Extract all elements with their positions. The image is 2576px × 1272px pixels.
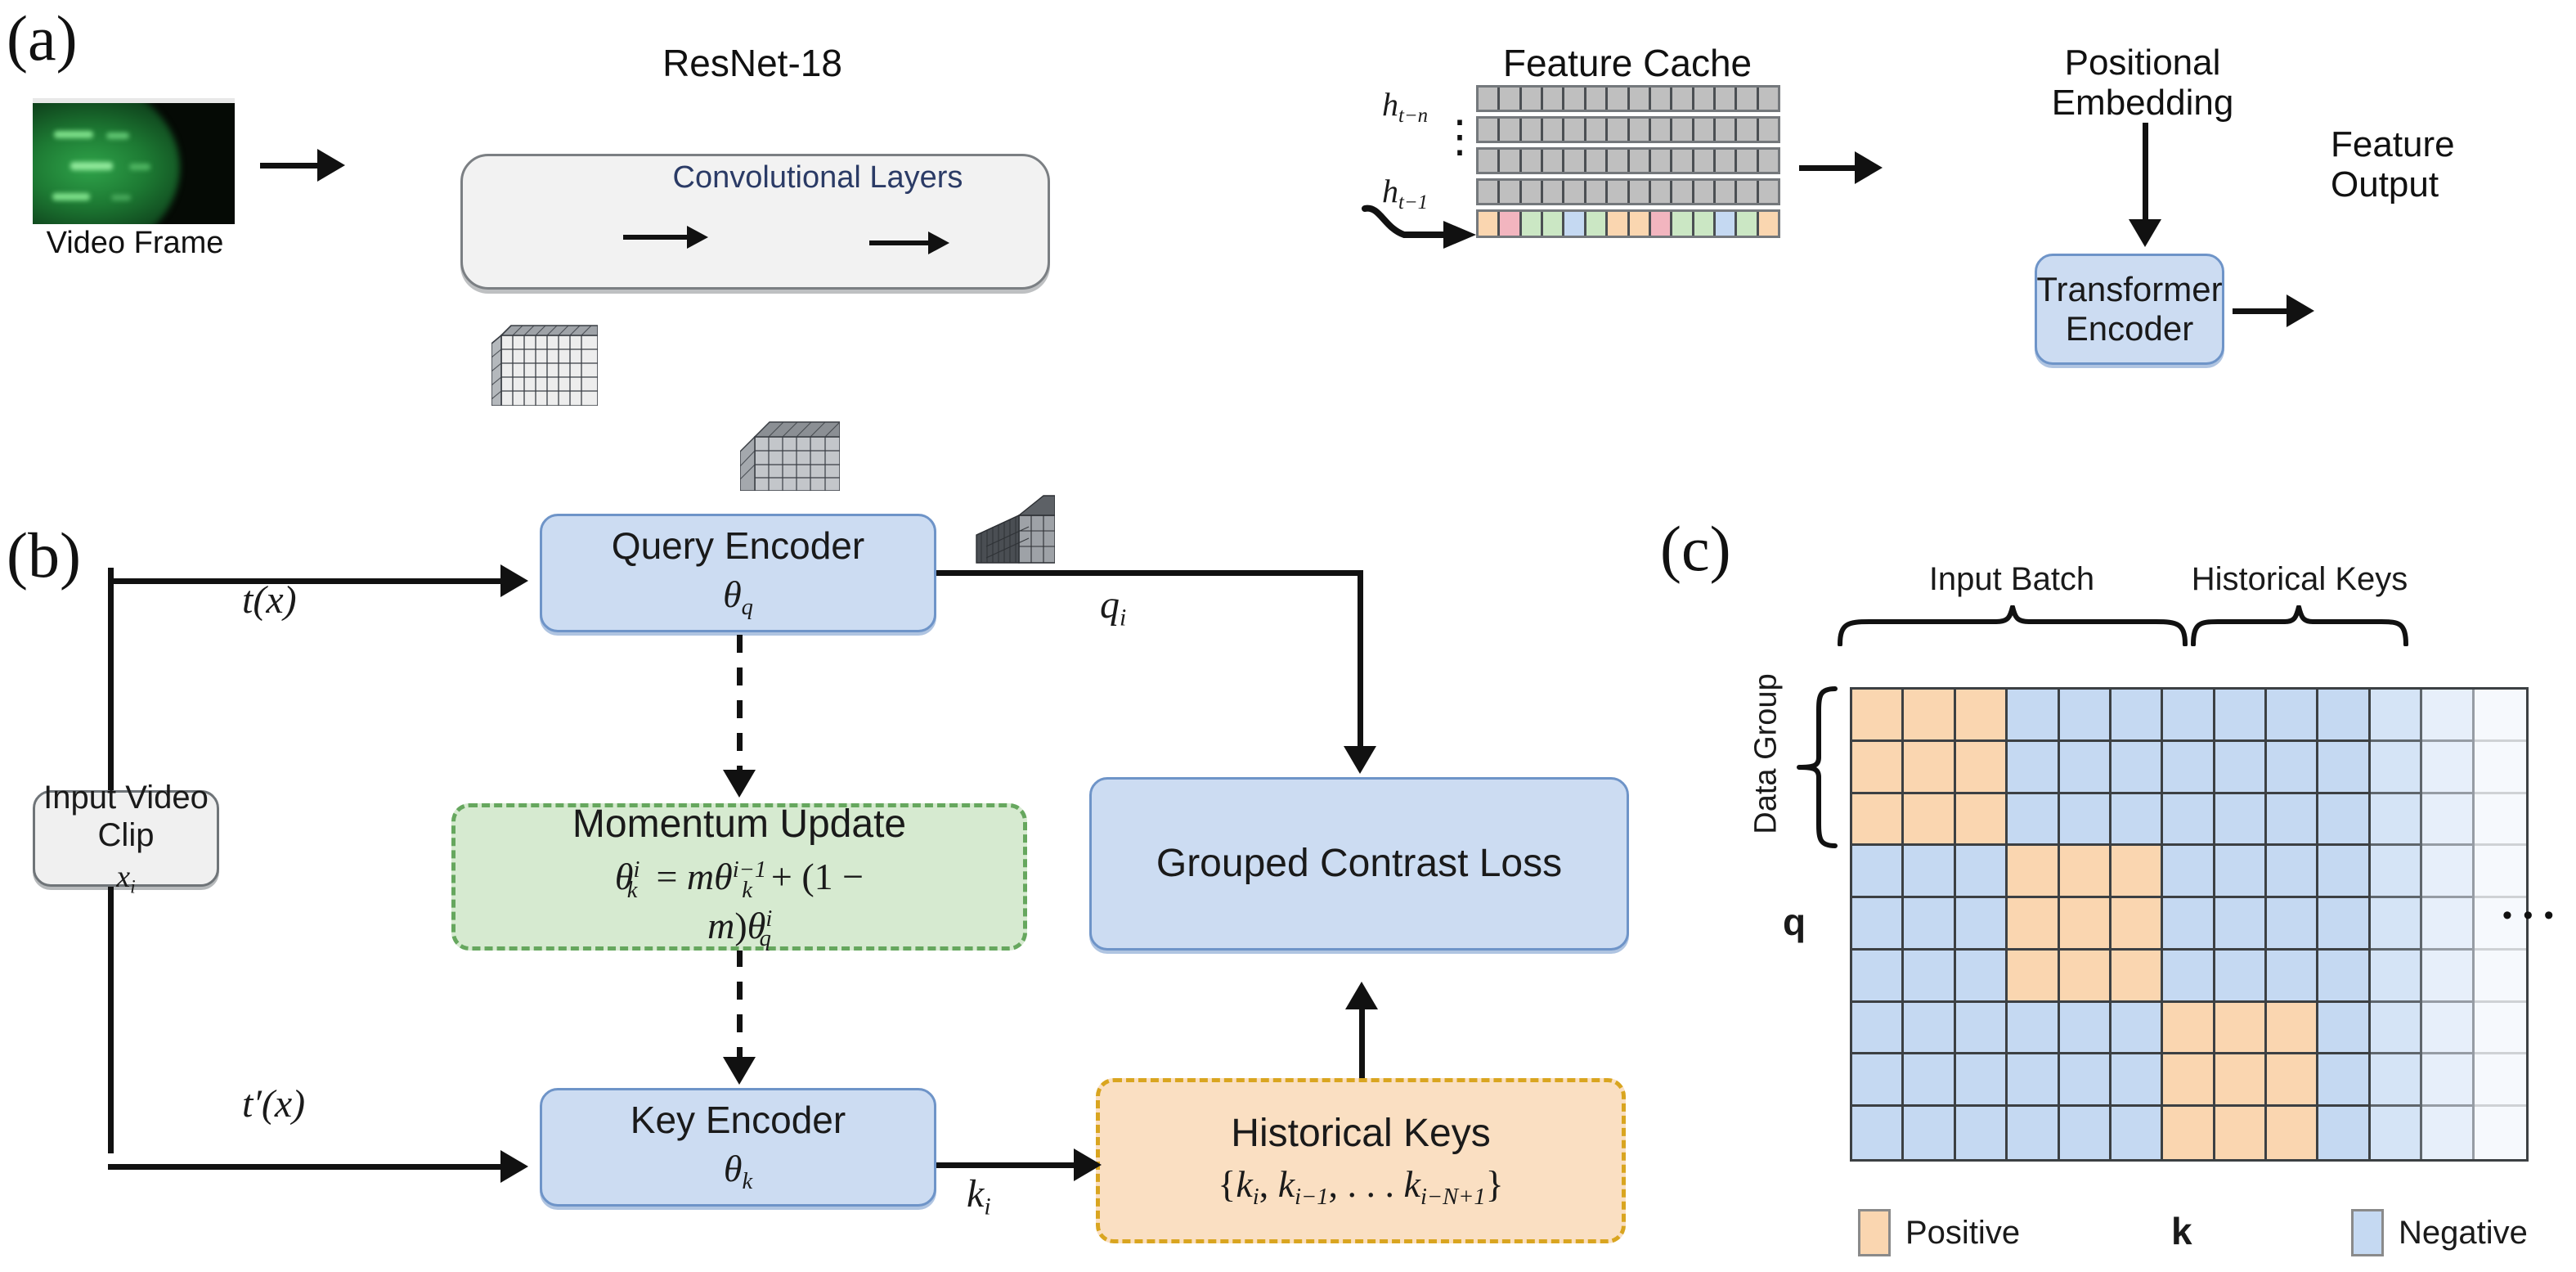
- cache-cell: [1500, 88, 1521, 110]
- cache-cell: [1651, 119, 1672, 141]
- query-encoder-theta: θq: [723, 573, 753, 621]
- cache-cell: [1564, 181, 1586, 203]
- matrix-cell: [2112, 951, 2163, 1003]
- matrix-cell: [2163, 742, 2215, 794]
- cache-cell: [1694, 150, 1716, 172]
- matrix-cell: [2475, 1054, 2526, 1107]
- historical-keys-set: {ki, ki−1, . . . ki−N+1}: [1218, 1162, 1504, 1211]
- matrix-cell: [2267, 898, 2318, 951]
- edge-label-t-x: t(x): [242, 578, 297, 623]
- key-encoder-theta: θk: [724, 1147, 752, 1195]
- label-data-group: Data Group: [1749, 656, 1784, 852]
- cache-cell-colored: [1608, 212, 1629, 236]
- cache-cell-colored: [1694, 212, 1716, 236]
- matrix-cell: [2060, 794, 2112, 847]
- cache-cell: [1737, 88, 1758, 110]
- theta-q-sub: q: [742, 596, 753, 621]
- feature-output-line2: Output: [2331, 164, 2576, 205]
- positional-embedding-label: Positional Embedding: [1987, 43, 2298, 124]
- cache-cell: [1522, 119, 1543, 141]
- matrix-cell: [2008, 794, 2059, 847]
- arrow-frame-to-resnet: [260, 149, 345, 182]
- matrix-cell: [2215, 846, 2267, 898]
- cache-cell-colored: [1759, 212, 1778, 236]
- historical-keys-label: Historical Keys: [1231, 1111, 1490, 1156]
- matrix-cell: [2060, 1107, 2112, 1159]
- transformer-encoder-line1: Transformer: [2036, 270, 2222, 309]
- matrix-cell: [2060, 1003, 2112, 1055]
- matrix-cell: [1956, 846, 2008, 898]
- matrix-cell: [1904, 951, 1955, 1003]
- arrow-input-to-query-encoder: [108, 564, 528, 597]
- label-input-batch: Input Batch: [1865, 561, 2159, 598]
- cache-cell: [1694, 119, 1716, 141]
- matrix-cell: [2475, 742, 2526, 794]
- arrow-conv-1-to-2: [623, 226, 708, 249]
- cache-cell: [1564, 119, 1586, 141]
- edge-label-k-i: ki: [967, 1171, 991, 1221]
- legend-swatch-positive: [1858, 1209, 1891, 1256]
- feature-cache-rows: [1476, 85, 1780, 238]
- resnet-title: ResNet-18: [458, 43, 1047, 85]
- cache-cell: [1543, 88, 1564, 110]
- matrix-cell: [2475, 794, 2526, 847]
- matrix-cell: [2163, 898, 2215, 951]
- legend-label-positive: Positive: [1905, 1215, 2020, 1252]
- matrix-cell: [1956, 690, 2008, 742]
- matrix-cell: [2215, 951, 2267, 1003]
- matrix-cell: [1956, 898, 2008, 951]
- matrix-cell: [2422, 794, 2474, 847]
- conv-feature-cube-3: [973, 492, 1055, 566]
- panel-b-tag: (b): [7, 524, 81, 587]
- matrix-cell: [1852, 690, 1904, 742]
- cache-cell: [1651, 150, 1672, 172]
- matrix-cell: [2422, 951, 2474, 1003]
- arrow-curved-into-cache: [1362, 200, 1484, 262]
- cache-cell-colored: [1564, 212, 1586, 236]
- positional-embedding-line2: Embedding: [1987, 83, 2298, 123]
- edge-k-sub: i: [984, 1193, 990, 1220]
- cache-cell-colored: [1586, 212, 1608, 236]
- cache-cell-colored: [1716, 212, 1737, 236]
- matrix-cell: [2267, 794, 2318, 847]
- cache-cell: [1479, 150, 1500, 172]
- grouped-contrast-loss-label: Grouped Contrast Loss: [1156, 841, 1562, 886]
- matrix-cell: [2112, 742, 2163, 794]
- cache-cell: [1737, 181, 1758, 203]
- cache-row-colored: [1476, 209, 1780, 238]
- panel-a-tag: (a): [7, 7, 78, 70]
- matrix-cell: [2475, 690, 2526, 742]
- video-frame-caption: Video Frame: [16, 226, 254, 262]
- matrix-cell: [2318, 1003, 2370, 1055]
- cache-cell: [1716, 119, 1737, 141]
- query-encoder-label: Query Encoder: [612, 524, 864, 568]
- matrix-cell: [1904, 1003, 1955, 1055]
- matrix-cell: [2163, 951, 2215, 1003]
- edge-label-t-prime-x: t′(x): [242, 1081, 305, 1126]
- input-video-clip-box[interactable]: Input Video Clip xi: [33, 790, 219, 887]
- matrix-cell: [2318, 898, 2370, 951]
- edge-k-base: k: [967, 1172, 984, 1216]
- transformer-encoder-line2: Encoder: [2066, 309, 2193, 348]
- matrix-cell: [2267, 1107, 2318, 1159]
- momentum-update-label: Momentum Update: [572, 802, 906, 847]
- matrix-cell: [1956, 742, 2008, 794]
- key-encoder-box[interactable]: Key Encoder θk: [540, 1088, 936, 1207]
- matrix-cell: [2422, 1003, 2474, 1055]
- cache-cell-colored: [1500, 212, 1521, 236]
- legend-swatch-negative: [2351, 1209, 2384, 1256]
- matrix-cell: [2060, 742, 2112, 794]
- cache-cell-colored: [1672, 212, 1694, 236]
- matrix-cell: [2215, 1107, 2267, 1159]
- matrix-cell: [1904, 1107, 1955, 1159]
- cache-cell: [1564, 150, 1586, 172]
- matrix-cell: [2267, 1003, 2318, 1055]
- matrix-cell: [2215, 794, 2267, 847]
- matrix-cell: [2008, 1054, 2059, 1107]
- matrix-cell: [1956, 951, 2008, 1003]
- matrix-cell: [2215, 690, 2267, 742]
- matrix-cell: [2422, 1054, 2474, 1107]
- cache-cell-colored: [1737, 212, 1758, 236]
- matrix-cell: [2112, 898, 2163, 951]
- cache-label-h-top-base: h: [1382, 86, 1398, 123]
- conv-feature-cube-2: [740, 416, 840, 491]
- matrix-cell: [2371, 690, 2422, 742]
- arrow-query-to-momentum: [723, 635, 756, 798]
- cache-cell: [1608, 88, 1629, 110]
- cache-cell: [1543, 119, 1564, 141]
- cache-cell: [1737, 119, 1758, 141]
- cache-label-h-t-minus-n: ht−n: [1382, 85, 1428, 128]
- matrix-cell: [1904, 690, 1955, 742]
- cache-cell-colored: [1543, 212, 1564, 236]
- matrix-cell: [2215, 742, 2267, 794]
- matrix-cell: [2060, 951, 2112, 1003]
- key-encoder-label: Key Encoder: [631, 1099, 846, 1142]
- arrow-momentum-to-key: [723, 949, 756, 1085]
- momentum-update-formula: θik = mθi−1k + (1 − m)θiq: [578, 855, 900, 951]
- cache-cell: [1586, 119, 1608, 141]
- left-brace-data-group: [1796, 685, 1838, 853]
- edge-query-to-loss-horizontal: [936, 570, 1363, 576]
- cache-cell: [1586, 150, 1608, 172]
- matrix-cell: [2163, 1003, 2215, 1055]
- legend-negative: Negative: [2351, 1209, 2528, 1256]
- matrix-cell: [2422, 898, 2474, 951]
- cache-cell: [1630, 88, 1651, 110]
- matrix-cell: [1852, 898, 1904, 951]
- cache-cell: [1543, 181, 1564, 203]
- conv-feature-cube-1: [491, 317, 598, 406]
- matrix-cell: [2422, 846, 2474, 898]
- theta-k-sub: k: [742, 1170, 752, 1195]
- edge-trunk-vertical: [108, 568, 114, 790]
- arrow-input-to-key-encoder: [108, 1150, 528, 1183]
- cache-cell: [1651, 181, 1672, 203]
- matrix-cell: [2163, 794, 2215, 847]
- matrix-cell: [2371, 742, 2422, 794]
- input-clip-i: i: [130, 876, 136, 897]
- matrix-cell: [1904, 1054, 1955, 1107]
- matrix-cell: [2163, 690, 2215, 742]
- cache-cell: [1716, 88, 1737, 110]
- cache-cell: [1500, 150, 1521, 172]
- theta-k-base: θ: [724, 1148, 743, 1189]
- matrix-cell: [2008, 742, 2059, 794]
- matrix-cell: [1956, 1003, 2008, 1055]
- matrix-cell: [2267, 951, 2318, 1003]
- matrix-cell: [2267, 690, 2318, 742]
- cache-cell: [1737, 150, 1758, 172]
- edge-query-to-loss-vertical: [1358, 570, 1363, 748]
- transformer-encoder-box[interactable]: Transformer Encoder: [2035, 254, 2224, 365]
- feature-output-label: Feature Output: [2331, 124, 2576, 205]
- positional-embedding-line1: Positional: [1987, 43, 2298, 83]
- similarity-matrix: [1850, 687, 2529, 1162]
- matrix-cell: [2267, 1054, 2318, 1107]
- matrix-cell: [2008, 1003, 2059, 1055]
- edge-q-sub: i: [1120, 605, 1126, 632]
- cache-cell: [1522, 150, 1543, 172]
- cache-cell-colored: [1522, 212, 1543, 236]
- matrix-cell: [2318, 690, 2370, 742]
- arrow-key-to-historical-keys: [936, 1148, 1102, 1181]
- matrix-cell: [2371, 1054, 2422, 1107]
- cache-cell: [1608, 181, 1629, 203]
- cache-cell: [1759, 88, 1778, 110]
- matrix-cell: [2060, 846, 2112, 898]
- matrix-cell: [2318, 1054, 2370, 1107]
- label-historical-keys-c: Historical Keys: [2185, 561, 2414, 598]
- matrix-cell: [2422, 742, 2474, 794]
- grouped-contrast-loss-box[interactable]: Grouped Contrast Loss: [1089, 777, 1629, 951]
- cache-cell: [1479, 119, 1500, 141]
- panel-c-tag: (c): [1660, 517, 1731, 581]
- matrix-cell: [1852, 1107, 1904, 1159]
- matrix-cell: [2008, 898, 2059, 951]
- momentum-update-box[interactable]: Momentum Update θik = mθi−1k + (1 − m)θi…: [451, 803, 1027, 951]
- cache-cell: [1672, 88, 1694, 110]
- cache-cell: [1522, 181, 1543, 203]
- matrix-cell: [2008, 846, 2059, 898]
- arrow-positional-embedding-down: [2129, 123, 2161, 247]
- cache-cell: [1543, 150, 1564, 172]
- cache-cell: [1608, 150, 1629, 172]
- edge-q-base: q: [1100, 583, 1120, 627]
- matrix-cell: [2060, 898, 2112, 951]
- cache-cell: [1522, 88, 1543, 110]
- cache-cell: [1672, 119, 1694, 141]
- input-video-clip-label: Input Video Clip: [35, 779, 217, 854]
- matrix-cell: [1904, 846, 1955, 898]
- label-q-axis: q: [1783, 900, 1806, 944]
- cache-row: [1476, 85, 1780, 112]
- arrow-query-to-loss-head: [1344, 746, 1376, 774]
- input-video-clip-subscript: xi: [116, 859, 135, 899]
- cache-cell: [1759, 181, 1778, 203]
- matrix-cell: [2422, 690, 2474, 742]
- matrix-ellipsis: • • •: [2502, 900, 2556, 932]
- matrix-cell: [2163, 1054, 2215, 1107]
- matrix-cell: [2060, 690, 2112, 742]
- top-brace-historical-keys: [2190, 605, 2409, 650]
- cache-cell: [1716, 181, 1737, 203]
- matrix-cell: [2475, 1107, 2526, 1159]
- matrix-cell: [2371, 794, 2422, 847]
- matrix-cell: [2475, 951, 2526, 1003]
- cache-row: [1476, 147, 1780, 174]
- matrix-cell: [2371, 1107, 2422, 1159]
- matrix-cell: [2112, 1107, 2163, 1159]
- cache-cell: [1672, 150, 1694, 172]
- feature-cache-title: Feature Cache: [1439, 43, 1815, 85]
- matrix-cell: [1904, 898, 1955, 951]
- arrow-transformer-to-output: [2233, 294, 2314, 327]
- arrow-cache-to-transformer: [1799, 151, 1883, 184]
- matrix-cell: [2371, 898, 2422, 951]
- cache-cell: [1630, 150, 1651, 172]
- matrix-cell: [2475, 846, 2526, 898]
- matrix-cell: [1852, 742, 1904, 794]
- cache-cell: [1694, 88, 1716, 110]
- cache-cell: [1500, 119, 1521, 141]
- arrow-historical-keys-to-loss: [1345, 982, 1378, 1078]
- matrix-cell: [2267, 846, 2318, 898]
- theta-q-base: θ: [723, 573, 742, 615]
- matrix-cell: [2371, 1003, 2422, 1055]
- matrix-cell: [2318, 742, 2370, 794]
- matrix-cell: [1852, 846, 1904, 898]
- matrix-cell: [2318, 951, 2370, 1003]
- matrix-cell: [2215, 1054, 2267, 1107]
- legend-label-negative: Negative: [2399, 1215, 2528, 1252]
- cache-row: [1476, 116, 1780, 143]
- top-brace-input-batch: [1837, 605, 2188, 650]
- matrix-cell: [2371, 951, 2422, 1003]
- matrix-cell: [2318, 846, 2370, 898]
- matrix-cell: [2112, 690, 2163, 742]
- matrix-cell: [1852, 951, 1904, 1003]
- cache-cell: [1586, 88, 1608, 110]
- matrix-cell: [2318, 1107, 2370, 1159]
- cache-cell: [1759, 119, 1778, 141]
- matrix-cell: [1956, 794, 2008, 847]
- cache-cell: [1651, 88, 1672, 110]
- matrix-cell: [2163, 846, 2215, 898]
- matrix-cell: [2422, 1107, 2474, 1159]
- cache-cell: [1608, 119, 1629, 141]
- cache-cell: [1672, 181, 1694, 203]
- edge-label-q-i: qi: [1100, 582, 1126, 632]
- arrow-conv-2-to-3: [869, 231, 949, 254]
- legend-positive: Positive: [1858, 1209, 2020, 1256]
- matrix-cell: [2267, 742, 2318, 794]
- matrix-cell: [2215, 1003, 2267, 1055]
- cache-cell-colored: [1630, 212, 1651, 236]
- matrix-cell: [1904, 794, 1955, 847]
- matrix-cell: [2060, 1054, 2112, 1107]
- matrix-cell: [1956, 1054, 2008, 1107]
- cache-vertical-dots: ⋮: [1438, 115, 1482, 159]
- matrix-cell: [2215, 898, 2267, 951]
- cache-cell: [1759, 150, 1778, 172]
- matrix-cell: [1852, 1054, 1904, 1107]
- video-frame-image: [33, 98, 235, 224]
- cache-label-h-top-sub: t−n: [1398, 105, 1428, 127]
- matrix-cell: [2475, 1003, 2526, 1055]
- cache-cell: [1694, 181, 1716, 203]
- conv-layers-label: Convolutional Layers: [622, 160, 1014, 196]
- cache-row: [1476, 178, 1780, 205]
- cache-cell: [1630, 119, 1651, 141]
- matrix-cell: [1852, 1003, 1904, 1055]
- matrix-cell: [2008, 951, 2059, 1003]
- matrix-cell: [2112, 1054, 2163, 1107]
- matrix-cell: [2008, 1107, 2059, 1159]
- cache-cell: [1564, 88, 1586, 110]
- cache-cell: [1479, 181, 1500, 203]
- edge-trunk-vertical-lower: [108, 887, 114, 1153]
- cache-cell: [1479, 88, 1500, 110]
- cache-cell: [1500, 181, 1521, 203]
- label-k-axis: k: [2171, 1209, 2192, 1253]
- feature-output-line1: Feature: [2331, 124, 2576, 164]
- cache-cell: [1586, 181, 1608, 203]
- matrix-cell: [2318, 794, 2370, 847]
- cache-cell: [1630, 181, 1651, 203]
- cache-cell-colored: [1651, 212, 1672, 236]
- matrix-cell: [1852, 794, 1904, 847]
- matrix-cell: [2008, 690, 2059, 742]
- matrix-cell: [2112, 1003, 2163, 1055]
- query-encoder-box[interactable]: Query Encoder θq: [540, 514, 936, 632]
- historical-keys-box[interactable]: Historical Keys {ki, ki−1, . . . ki−N+1}: [1096, 1078, 1626, 1243]
- matrix-cell: [1956, 1107, 2008, 1159]
- input-clip-x: x: [116, 860, 130, 894]
- matrix-cell: [2163, 1107, 2215, 1159]
- matrix-cell: [2112, 794, 2163, 847]
- cache-cell: [1716, 150, 1737, 172]
- matrix-cell: [1904, 742, 1955, 794]
- matrix-cell: [2112, 846, 2163, 898]
- matrix-cell: [2371, 846, 2422, 898]
